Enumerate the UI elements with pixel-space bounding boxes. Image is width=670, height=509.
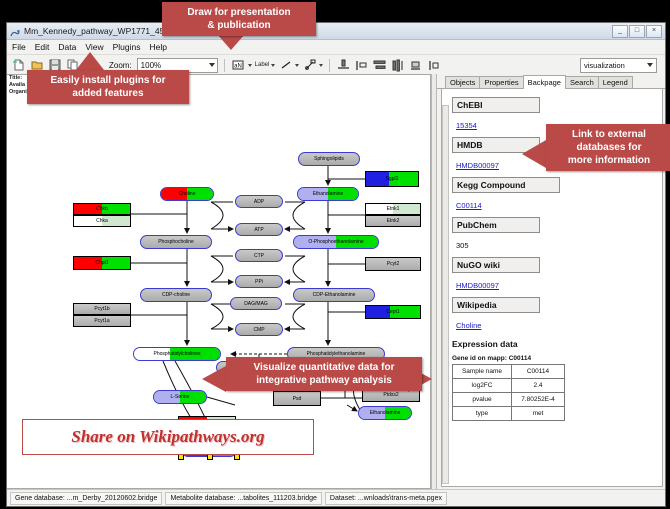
pathway-node-label: Sphingolipids: [314, 156, 344, 162]
chevron-down-icon[interactable]: [248, 64, 252, 67]
db-link-kegg[interactable]: C00114: [456, 201, 482, 210]
pathway-node-phosphatidylcholines[interactable]: Phosphatidylcholines: [133, 347, 221, 361]
distribute-vertical-icon[interactable]: [372, 58, 387, 73]
row-key: Sample name: [453, 365, 512, 379]
chevron-down-icon[interactable]: [319, 64, 323, 67]
chevron-down-icon[interactable]: [271, 64, 275, 67]
pathway-node-ethanolamine_right[interactable]: Ethanolamine: [358, 406, 412, 420]
status-bar: Gene database: ...m_Derby_20120602.bridg…: [7, 489, 665, 506]
pathway-node-cdpcholine[interactable]: CDP-choline: [140, 288, 212, 302]
label-button[interactable]: Label: [255, 62, 270, 68]
db-value-pubchem: 305: [456, 241, 469, 250]
visualization-value: visualization: [584, 61, 625, 70]
pathway-node-label: CDP-choline: [162, 292, 190, 298]
callout-quant-arrow-icon: [202, 366, 226, 392]
pathway-node-lserine_left[interactable]: L-Serine: [153, 390, 207, 404]
row-value: 2.4: [512, 379, 565, 393]
pathway-node-ctp[interactable]: CTP: [235, 249, 283, 262]
visualization-combo[interactable]: visualization: [580, 58, 657, 73]
zoom-value: 100%: [141, 61, 161, 70]
pathway-node-label: O-Phosphoethanolamine: [308, 239, 363, 245]
status-metabolite-database: Metabolite database: ...tabolites_111203…: [165, 492, 321, 505]
db-header-wikipedia: Wikipedia: [452, 297, 540, 313]
pathway-node-cdpethanolamine[interactable]: CDP-Ethanolamine: [293, 288, 375, 302]
pathway-node-label: Chkb: [96, 206, 108, 212]
group-icon[interactable]: [426, 58, 441, 73]
pathway-node-etnk1[interactable]: Etnk1: [365, 203, 421, 215]
pathway-node-label: DAG/MAG: [244, 301, 268, 307]
callout-plugins: Easily install plugins for added feature…: [27, 70, 189, 104]
db-link-hmdb[interactable]: HMDB00097: [456, 161, 499, 170]
pathway-node-label: Pcyt1b: [94, 306, 109, 312]
chevron-down-icon: [209, 63, 215, 67]
callout-draw-text: Draw for presentation & publication: [187, 7, 290, 31]
pathway-node-label: CMP: [253, 327, 264, 333]
status-dataset: Dataset: ...wnloads\trans-meta.pgex: [325, 492, 447, 505]
menu-item-help[interactable]: Help: [150, 42, 167, 52]
align-top-icon[interactable]: [336, 58, 351, 73]
pathway-node-label: Ptdss2: [383, 392, 398, 398]
pathway-node-label: CDP-Ethanolamine: [313, 292, 356, 298]
pathway-node-atp[interactable]: ATP: [235, 223, 283, 236]
stack-icon[interactable]: [408, 58, 423, 73]
pathway-node-ethanolamine_top[interactable]: Ethanolamine: [297, 187, 359, 201]
callout-links-text: Link to external databases for more info…: [568, 129, 650, 166]
pathway-node-pcyt1b[interactable]: Pcyt1b: [73, 303, 131, 315]
toolbar-separator: [329, 59, 330, 72]
tab-properties[interactable]: Properties: [479, 76, 523, 88]
db-link-wikipedia[interactable]: Choline: [456, 321, 481, 330]
db-header-chebi: ChEBI: [452, 97, 540, 113]
callout-plugins-arrow-icon: [76, 52, 104, 70]
callout-plugins-text: Easily install plugins for added feature…: [50, 75, 165, 99]
callout-quant: Visualize quantitative data for integrat…: [226, 357, 422, 391]
close-button[interactable]: ×: [646, 25, 662, 38]
pathway-node-chpt1[interactable]: Chpt1: [73, 256, 131, 270]
pathway-node-label: Sgpl1: [386, 176, 399, 182]
pathway-node-pcyt2[interactable]: Pcyt2: [365, 257, 421, 271]
pathway-node-label: Choline: [179, 191, 196, 197]
pathway-node-choline_top[interactable]: Choline: [160, 187, 214, 201]
side-panel-tabs: Objects Properties Backpage Search Legen…: [437, 74, 665, 89]
callout-draw-arrow-icon: [217, 34, 245, 50]
distribute-horizontal-icon[interactable]: [390, 58, 405, 73]
pathway-node-chkb[interactable]: Chkb: [73, 203, 131, 215]
pathway-node-ophosphoethanolamine[interactable]: O-Phosphoethanolamine: [293, 235, 379, 249]
table-row: Sample name C00114: [453, 365, 565, 379]
pathway-node-label: Ethanolamine: [370, 410, 401, 416]
backpage-scrollbar[interactable]: [442, 105, 449, 484]
row-value: met: [512, 407, 565, 421]
row-key: log2FC: [453, 379, 512, 393]
pathway-node-cmp[interactable]: CMP: [235, 323, 283, 336]
db-link-nugo[interactable]: HMDB00097: [456, 281, 499, 290]
pathway-node-adp[interactable]: ADP: [235, 195, 283, 208]
zoom-label: Zoom:: [109, 61, 132, 70]
callout-share-text: Share on Wikipathways.org: [71, 427, 264, 447]
minimize-button[interactable]: _: [612, 25, 628, 38]
pathway-node-label: ADP: [254, 199, 264, 205]
pathway-node-dagmag[interactable]: DAG/MAG: [230, 297, 282, 310]
db-header-pubchem: PubChem: [452, 217, 540, 233]
text-label-icon[interactable]: aN: [231, 58, 246, 73]
pathway-node-label: L-Serine: [171, 394, 190, 400]
receptor-icon[interactable]: [302, 58, 317, 73]
title-bar: Mm_Kennedy_pathway_WP1771_45176.gpml _ □…: [7, 23, 665, 40]
menu-item-view[interactable]: View: [85, 42, 103, 52]
pathway-node-sgpl1[interactable]: Sgpl1: [365, 171, 419, 187]
datanode-tool-group[interactable]: aN: [231, 58, 252, 73]
db-header-kegg: Kegg Compound: [452, 177, 560, 193]
chevron-down-icon[interactable]: [295, 64, 299, 67]
row-key: type: [453, 407, 512, 421]
chevron-down-icon: [647, 63, 653, 67]
pathway-node-ppi[interactable]: PPi: [235, 275, 283, 288]
menu-item-edit[interactable]: Edit: [35, 42, 50, 52]
pathway-node-label: Etnk2: [387, 218, 400, 224]
tab-legend[interactable]: Legend: [598, 76, 633, 88]
tab-objects[interactable]: Objects: [445, 76, 480, 88]
expression-data-heading: Expression data: [452, 339, 662, 349]
label-tool-group[interactable]: Label: [255, 62, 276, 68]
table-row: type met: [453, 407, 565, 421]
pathway-node-label: Phosphocholine: [158, 239, 194, 245]
table-row: pvalue 7.80252E-4: [453, 393, 565, 407]
pathway-node-pcyt1a[interactable]: Pcyt1a: [73, 315, 131, 327]
callout-links-arrow-icon: [522, 140, 546, 168]
window-controls: _ □ ×: [612, 25, 662, 38]
align-left-icon[interactable]: [354, 58, 369, 73]
db-link-chebi[interactable]: 15354: [456, 121, 477, 130]
pathway-node-label: Psd: [293, 396, 302, 402]
receptor-tool-group[interactable]: [302, 58, 323, 73]
table-row: log2FC 2.4: [453, 379, 565, 393]
callout-draw: Draw for presentation & publication: [162, 2, 316, 36]
pathway-node-label: ATP: [254, 227, 263, 233]
tab-backpage[interactable]: Backpage: [523, 75, 566, 89]
pathway-node-etnk2[interactable]: Etnk2: [365, 215, 421, 227]
callout-links: Link to external databases for more info…: [546, 124, 670, 171]
pathway-node-label: PPi: [255, 279, 263, 285]
menu-item-data[interactable]: Data: [58, 42, 76, 52]
pathway-node-label: Phosphatidylcholines: [154, 351, 201, 357]
expression-table: Sample name C00114 log2FC 2.4 pvalue 7.8…: [452, 364, 565, 421]
pathway-node-psd[interactable]: Psd: [273, 391, 321, 406]
row-key: pvalue: [453, 393, 512, 407]
db-header-nugo: NuGO wiki: [452, 257, 540, 273]
pathway-node-label: Etnk1: [387, 206, 400, 212]
pathway-node-label: Cept1: [386, 309, 399, 315]
pathway-node-label: Pcyt2: [387, 261, 400, 267]
status-gene-database: Gene database: ...m_Derby_20120602.bridg…: [10, 492, 162, 505]
maximize-button[interactable]: □: [629, 25, 645, 38]
pathway-node-label: Chpt1: [95, 260, 108, 266]
callout-quant-text: Visualize quantitative data for integrat…: [254, 362, 395, 386]
pathway-node-label: CTP: [254, 253, 264, 259]
pathway-node-phosphocholine[interactable]: Phosphocholine: [140, 235, 212, 249]
pathway-node-label: Pcyt1a: [94, 318, 109, 324]
menu-item-file[interactable]: File: [12, 42, 26, 52]
pathway-node-label: Ethanolamine: [313, 191, 344, 197]
line-tool-group[interactable]: [278, 58, 299, 73]
app-icon: [10, 26, 20, 36]
svg-text:aN: aN: [234, 64, 242, 70]
line-icon[interactable]: [278, 58, 293, 73]
tab-search[interactable]: Search: [565, 76, 599, 88]
toolbar-separator: [224, 59, 225, 72]
row-value: C00114: [512, 365, 565, 379]
pathway-node-sphingolipids[interactable]: Sphingolipids: [298, 152, 360, 166]
gene-id-label: Gene id on mapp: C00114: [452, 355, 662, 362]
pathway-node-label: Chka: [96, 218, 108, 224]
pathway-node-cept1[interactable]: Cept1: [365, 305, 421, 319]
new-file-icon[interactable]: [11, 58, 26, 73]
menu-item-plugins[interactable]: Plugins: [113, 42, 141, 52]
callout-share: Share on Wikipathways.org: [22, 419, 314, 455]
row-value: 7.80252E-4: [512, 393, 565, 407]
menu-bar: File Edit Data View Plugins Help: [7, 40, 665, 55]
pathway-node-chka[interactable]: Chka: [73, 215, 131, 227]
